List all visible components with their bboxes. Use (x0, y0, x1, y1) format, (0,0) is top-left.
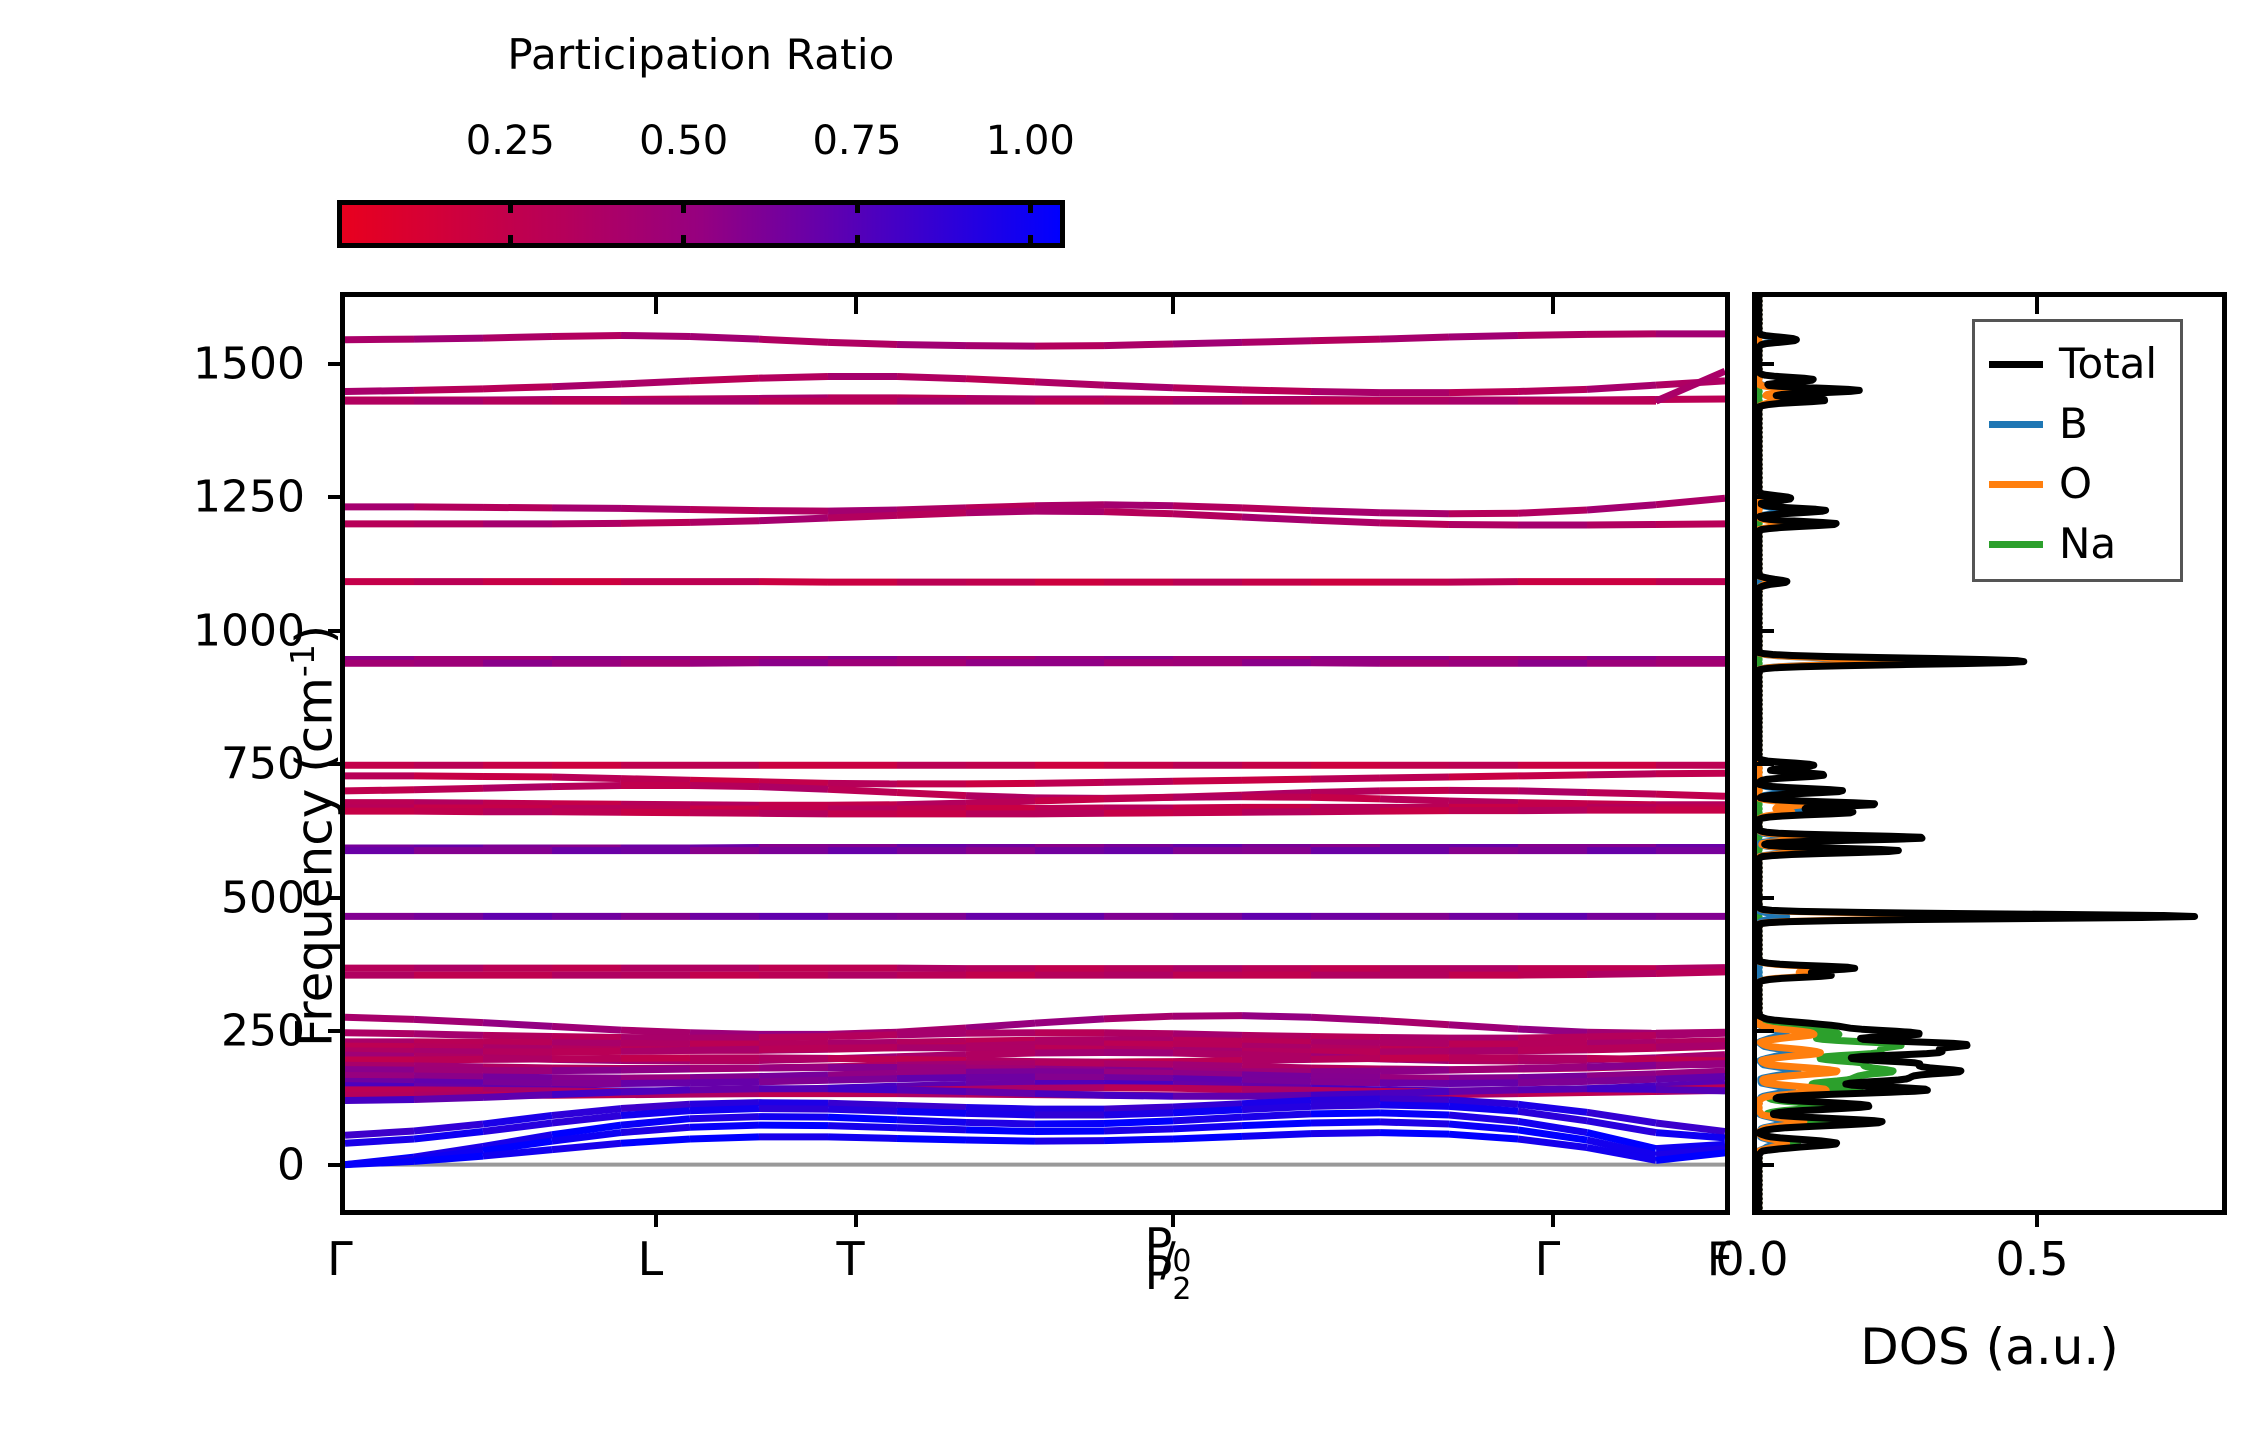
phonon-band-segment (759, 813, 828, 814)
legend-label: Na (2059, 523, 2116, 565)
phonon-band-segment (1035, 1131, 1104, 1132)
band-x-tick-label: L (638, 1232, 664, 1286)
legend-label: O (2059, 463, 2092, 505)
phonon-band-segment (1104, 797, 1173, 799)
phonon-band-segment (1242, 1080, 1311, 1082)
colorbar-tick (508, 200, 513, 213)
band-y-tick (328, 495, 345, 499)
phonon-band-segment (690, 1033, 759, 1035)
phonon-band-segment (1242, 390, 1311, 392)
phonon-band-segment (1518, 1058, 1587, 1059)
phonon-band-segment (483, 787, 552, 789)
phonon-band-segment (1104, 505, 1173, 506)
dos-x-tick-label: 0.5 (1996, 1232, 2069, 1286)
colorbar-tick (855, 235, 860, 248)
phonon-band-segment (1587, 792, 1656, 794)
colorbar-tick-labels: 0.250.500.751.00 (337, 118, 1065, 166)
phonon-band-segment (759, 518, 828, 521)
phonon-band-segment (1104, 1064, 1173, 1065)
legend-item-na: Na (1989, 514, 2166, 574)
phonon-band-segment (1656, 1041, 1725, 1043)
phonon-band-segment (414, 1097, 483, 1099)
phonon-band-segment (759, 1048, 828, 1049)
phonon-band-segment (1104, 1072, 1173, 1073)
phonon-band-segment (1104, 1040, 1173, 1041)
phonon-band-structure-panel: Frequency (cm-1) (340, 292, 1730, 1215)
phonon-band-segment (1449, 392, 1518, 393)
legend-item-b: B (1989, 394, 2166, 454)
phonon-band-segment (1242, 1035, 1311, 1036)
phonon-band-segment (1449, 513, 1518, 514)
dos-x-tick-top (2035, 297, 2039, 314)
phonon-band-segment (1104, 1088, 1173, 1089)
phonon-band-segment (621, 1043, 690, 1044)
phonon-band-segment (1587, 1065, 1656, 1067)
phonon-band-segment (552, 508, 621, 509)
colorbar-tick-label: 0.25 (466, 118, 555, 164)
band-y-tick-label: 1250 (193, 472, 305, 523)
phonon-band-segment (1380, 1038, 1449, 1039)
phonon-band-segment (414, 507, 483, 508)
phonon-band-segment (1242, 1016, 1311, 1018)
phonon-band-segment (1311, 791, 1380, 793)
phonon-band-segment (1173, 514, 1242, 517)
phonon-band-segment (483, 337, 552, 339)
phonon-band-segment (621, 1127, 690, 1132)
phonon-band-segment (1104, 1033, 1173, 1034)
phonon-band-segment (1656, 1064, 1725, 1065)
phonon-band-segment (1311, 1058, 1380, 1059)
phonon-band-segment (897, 1059, 966, 1060)
phonon-band-segment (483, 507, 552, 508)
phonon-band-segment (345, 1051, 414, 1052)
phonon-band-segment (690, 1082, 759, 1083)
band-curves-svg (345, 297, 1725, 1210)
phonon-band-segment (552, 384, 621, 387)
phonon-band-segment (966, 1130, 1035, 1132)
phonon-band-segment (552, 1143, 621, 1149)
phonon-band-segment (759, 787, 828, 790)
phonon-band-segment (1380, 337, 1449, 339)
band-y-tick-label: 1500 (193, 338, 305, 389)
phonon-band-segment (1380, 1058, 1449, 1059)
phonon-band-segment (1242, 797, 1311, 798)
phonon-band-segment (621, 1111, 690, 1116)
phonon-band-segment (1173, 1073, 1242, 1075)
phonon-band-segment (759, 1109, 828, 1110)
phonon-band-segment (1173, 1053, 1242, 1055)
phonon-band-segment (621, 1058, 690, 1059)
phonon-band-segment (897, 792, 966, 795)
phonon-band-segment (1518, 810, 1587, 811)
phonon-band-segment (966, 783, 1035, 784)
phonon-band-segment (1035, 382, 1104, 385)
phonon-band-segment (1035, 505, 1104, 506)
phonon-band-segment (621, 1078, 690, 1079)
phonon-band-segment (1518, 791, 1587, 793)
phonon-band-segment (1656, 794, 1725, 796)
phonon-band-segment (1518, 1081, 1587, 1083)
phonon-band-segment (1173, 1034, 1242, 1036)
phonon-band-segment (1380, 1083, 1449, 1084)
phonon-band-segment (690, 1094, 759, 1095)
phonon-band-segment (621, 1090, 690, 1092)
phonon-band-segment (1380, 1105, 1449, 1107)
phonon-band-segment (1035, 1124, 1104, 1125)
phonon-band-segment (1104, 1107, 1173, 1109)
band-x-tick-top (654, 297, 658, 314)
phonon-band-segment (414, 1019, 483, 1022)
phonon-band-segment (1104, 813, 1173, 814)
colorbar-tick-label: 1.00 (986, 118, 1075, 164)
phonon-band-segment (1449, 582, 1518, 583)
phonon-band-segment (1449, 1115, 1518, 1121)
phonon-band-segment (828, 789, 897, 792)
phonon-band-segment (1173, 1104, 1242, 1107)
legend-label: Total (2059, 343, 2157, 385)
phonon-band-segment (828, 1079, 897, 1081)
phonon-band-segment (483, 1077, 552, 1078)
phonon-band-segment (759, 582, 828, 583)
phonon-band-segment (483, 1095, 552, 1098)
phonon-band-segment (966, 379, 1035, 382)
phonon-band-segment (1380, 1122, 1449, 1124)
phonon-band-segment (966, 1048, 1035, 1049)
phonon-band-segment (1311, 797, 1380, 799)
phonon-band-segment (690, 1109, 759, 1111)
phonon-band-segment (1035, 1077, 1104, 1078)
phonon-band-segment (966, 1091, 1035, 1093)
phonon-band-segment (1380, 523, 1449, 525)
phonon-band-segment (483, 387, 552, 389)
phonon-band-segment (552, 777, 621, 779)
phonon-band-segment (828, 1137, 897, 1139)
phonon-band-segment (690, 1125, 759, 1127)
phonon-band-segment (1380, 1020, 1449, 1024)
phonon-band-segment (1242, 1134, 1311, 1137)
phonon-band-segment (1173, 1079, 1242, 1081)
phonon-band-segment (1104, 1139, 1173, 1141)
phonon-band-segment (966, 1023, 1035, 1028)
phonon-band-segment (759, 1103, 828, 1104)
phonon-band-segment (1242, 1095, 1311, 1096)
phonon-band-segment (1518, 775, 1587, 776)
phonon-band-segment (1449, 1083, 1518, 1084)
phonon-band-segment (1173, 780, 1242, 781)
phonon-band-segment (1035, 511, 1104, 512)
phonon-band-segment (966, 801, 1035, 803)
dos-y-tick (1757, 896, 1774, 900)
phonon-band-segment (897, 513, 966, 516)
phonon-band-segment (690, 1038, 759, 1039)
phonon-band-segment (345, 339, 414, 340)
phonon-band-segment (345, 1033, 414, 1034)
phonon-band-segment (552, 523, 621, 524)
phonon-band-segment (483, 1059, 552, 1060)
phonon-band-segment (897, 803, 966, 805)
phonon-band-segment (828, 1089, 897, 1090)
phonon-band-segment (1587, 1042, 1656, 1043)
phonon-band-segment (621, 812, 690, 813)
dos-y-tick (1757, 362, 1774, 366)
phonon-band-segment (1587, 1079, 1656, 1081)
phonon-band-segment (1242, 1114, 1311, 1117)
phonon-band-segment (552, 335, 621, 336)
phonon-band-segment (897, 1072, 966, 1073)
participation-ratio-colorbar (337, 200, 1065, 248)
phonon-band-segment (828, 1103, 897, 1105)
phonon-band-segment (1035, 808, 1104, 809)
phonon-band-segment (483, 1083, 552, 1084)
phonon-band-segment (552, 1058, 621, 1059)
phonon-band-segment (690, 1049, 759, 1050)
phonon-band-segment (1104, 1121, 1173, 1124)
colorbar-gradient (337, 200, 1065, 248)
phonon-band-segment (1035, 1141, 1104, 1142)
phonon-band-segment (759, 1117, 828, 1118)
colorbar-tick (508, 235, 513, 248)
phonon-band-segment (690, 1077, 759, 1078)
phonon-band-segment (966, 506, 1035, 508)
phonon-band-segment (345, 1131, 414, 1135)
phonon-band-segment (345, 1070, 414, 1071)
phonon-band-segment (1104, 1129, 1173, 1131)
phonon-band-segment (966, 1033, 1035, 1034)
legend-item-total: Total (1989, 334, 2166, 394)
phonon-band-segment (1518, 975, 1587, 976)
phonon-band-segment (1311, 1042, 1380, 1043)
phonon-band-segment (897, 1111, 966, 1113)
phonon-band-segment (1035, 782, 1104, 783)
phonon-band-segment (966, 1113, 1035, 1115)
phonon-band-segment (483, 1023, 552, 1027)
phonon-band-segment (483, 803, 552, 804)
phonon-band-segment (414, 1070, 483, 1071)
phonon-band-segment (1656, 773, 1725, 774)
phonon-band-segment (966, 1072, 1035, 1073)
band-y-tick-labels: 0250500750100012501500 (0, 292, 330, 1215)
band-x-tick-label: T (837, 1232, 865, 1286)
phonon-band-segment (897, 1105, 966, 1107)
phonon-band-segment (1587, 774, 1656, 775)
dos-legend: TotalBONa (1972, 319, 2183, 582)
phonon-band-segment (552, 804, 621, 805)
phonon-band-segment (690, 509, 759, 510)
phonon-band-segment (1380, 790, 1449, 791)
phonon-band-segment (1587, 1035, 1656, 1037)
phonon-band-segment (828, 1126, 897, 1128)
phonon-band-segment (1449, 790, 1518, 791)
phonon-band-segment (414, 811, 483, 812)
phonon-band-segment (483, 1042, 552, 1043)
phonon-band-segment (759, 782, 828, 784)
phonon-band-segment (1449, 1124, 1518, 1130)
phonon-band-segment (552, 812, 621, 813)
phonon-band-segment (1311, 778, 1380, 779)
phonon-band-segment (1104, 1016, 1173, 1019)
phonon-band-segment (1311, 1077, 1380, 1078)
phonon-band-segment (897, 968, 966, 969)
phonon-band-segment (690, 1089, 759, 1090)
phonon-band-segment (1104, 1044, 1173, 1045)
phonon-band-segment (1311, 520, 1380, 523)
dos-y-tick (1757, 495, 1774, 499)
phonon-band-segment (690, 1137, 759, 1139)
phonon-band-segment (828, 783, 897, 784)
legend-item-o: O (1989, 454, 2166, 514)
phonon-band-segment (414, 1034, 483, 1036)
phonon-band-segment (552, 1051, 621, 1052)
phonon-band-segment (1311, 339, 1380, 341)
phonon-band-segment (1449, 1025, 1518, 1029)
band-x-tick (854, 1210, 858, 1227)
phonon-band-segment (1311, 811, 1380, 812)
phonon-band-segment (1311, 1071, 1380, 1072)
band-x-tick (1551, 1210, 1555, 1227)
phonon-band-segment (690, 1068, 759, 1069)
dos-y-tick (1757, 762, 1774, 766)
phonon-band-segment (1311, 511, 1380, 513)
phonon-band-segment (1587, 1047, 1656, 1049)
phonon-band-segment (1035, 346, 1104, 347)
phonon-band-segment (1173, 1065, 1242, 1067)
phonon-band-segment (690, 805, 759, 806)
phonon-band-segment (1311, 663, 1380, 664)
phonon-band-segment (552, 1036, 621, 1037)
figure-canvas: Participation Ratio 0.250.500.751.00 025… (0, 0, 2259, 1455)
phonon-band-segment (1380, 799, 1449, 801)
phonon-band-segment (1311, 1082, 1380, 1083)
phonon-band-segment (1380, 1070, 1449, 1071)
phonon-band-segment (828, 1058, 897, 1059)
colorbar-tick-label: 0.50 (639, 118, 728, 164)
phonon-band-segment (345, 1065, 414, 1066)
phonon-band-segment (414, 389, 483, 391)
phonon-band-segment (1518, 1049, 1587, 1051)
phonon-band-segment (1380, 1113, 1449, 1115)
phonon-band-segment (1173, 1040, 1242, 1041)
phonon-band-segment (1242, 341, 1311, 343)
phonon-band-segment (897, 1090, 966, 1092)
phonon-band-segment (1518, 1076, 1587, 1078)
phonon-band-segment (897, 1085, 966, 1087)
dos-y-tick (1757, 1029, 1774, 1033)
phonon-band-segment (1242, 1046, 1311, 1048)
phonon-band-segment (1035, 799, 1104, 801)
phonon-band-segment (1173, 1061, 1242, 1062)
phonon-band-segment (1173, 1117, 1242, 1121)
phonon-band-segment (1173, 1110, 1242, 1113)
phonon-band-segment (690, 1117, 759, 1119)
phonon-band-segment (621, 1030, 690, 1033)
phonon-band-segment (1656, 968, 1725, 969)
phonon-band-segment (1035, 1072, 1104, 1073)
legend-swatch (1989, 421, 2043, 428)
phonon-band-segment (1035, 1044, 1104, 1045)
colorbar-tick (681, 235, 686, 248)
phonon-band-segment (897, 808, 966, 809)
legend-swatch (1989, 541, 2043, 548)
phonon-band-segment (345, 1017, 414, 1019)
phonon-band-segment (759, 1058, 828, 1059)
phonon-band-segment (1449, 1078, 1518, 1079)
phonon-band-segment (1173, 797, 1242, 798)
phonon-band-segment (897, 1078, 966, 1079)
phonon-band-segment (1035, 1040, 1104, 1041)
phonon-band-segment (828, 342, 897, 344)
phonon-band-segment (414, 788, 483, 790)
phonon-band-segment (1380, 1091, 1449, 1093)
phonon-band-segment (828, 1035, 897, 1037)
band-x-tick-top (1551, 297, 1555, 314)
phonon-band-segment (1380, 777, 1449, 778)
colorbar-tick-label: 0.75 (812, 118, 901, 164)
phonon-band-segment (1242, 508, 1311, 511)
phonon-band-segment (828, 1048, 897, 1049)
phonon-band-segment (414, 338, 483, 339)
phonon-band-segment (345, 1161, 414, 1164)
phonon-band-segment (1587, 1089, 1656, 1090)
phonon-band-segment (414, 1051, 483, 1052)
phonon-band-segment (1587, 505, 1656, 510)
legend-swatch (1989, 361, 2043, 368)
phonon-band-segment (1035, 1094, 1104, 1096)
phonon-band-segment (759, 1043, 828, 1044)
phonon-band-segment (690, 780, 759, 782)
phonon-band-segment (414, 803, 483, 804)
colorbar-tick (681, 200, 686, 213)
phonon-band-segment (345, 1075, 414, 1076)
phonon-band-segment (621, 335, 690, 336)
phonon-band-segment (897, 377, 966, 379)
phonon-band-segment (966, 1122, 1035, 1124)
dos-y-tick (1757, 1163, 1774, 1167)
phonon-band-segment (1311, 1105, 1380, 1107)
band-y-tick (328, 1163, 345, 1167)
phonon-band-segment (1242, 1089, 1311, 1090)
phonon-band-segment (621, 804, 690, 805)
phonon-band-segment (621, 1083, 690, 1084)
phonon-band-segment (690, 813, 759, 814)
phonon-band-segment (345, 1081, 414, 1082)
phonon-band-segment (1518, 334, 1587, 335)
phonon-band-segment (828, 1117, 897, 1120)
phonon-band-segment (552, 1092, 621, 1095)
phonon-band-segment (414, 1047, 483, 1048)
band-y-tick-label: 0 (277, 1139, 305, 1190)
phonon-band-segment (621, 522, 690, 523)
phonon-band-segment (1173, 1044, 1242, 1046)
phonon-band-segment (1104, 1095, 1173, 1096)
colorbar-tick (855, 200, 860, 213)
colorbar-tick (1028, 235, 1033, 248)
phonon-band-segment (828, 510, 897, 511)
phonon-band-segment (1380, 1078, 1449, 1079)
phonon-band-segment (621, 1050, 690, 1051)
phonon-band-segment (897, 1138, 966, 1140)
phonon-band-segment (345, 790, 414, 791)
legend-swatch (1989, 481, 2043, 488)
band-x-tick-top (854, 297, 858, 314)
phonon-band-segment (414, 776, 483, 777)
phonon-band-segment (897, 1128, 966, 1130)
legend-label: B (2059, 403, 2088, 445)
phonon-band-segment (1173, 812, 1242, 813)
phonon-band-segment (621, 1139, 690, 1143)
phonon-band-segment (828, 805, 897, 806)
phonon-band-segment (621, 1069, 690, 1070)
phonon-band-segment (1587, 524, 1656, 525)
